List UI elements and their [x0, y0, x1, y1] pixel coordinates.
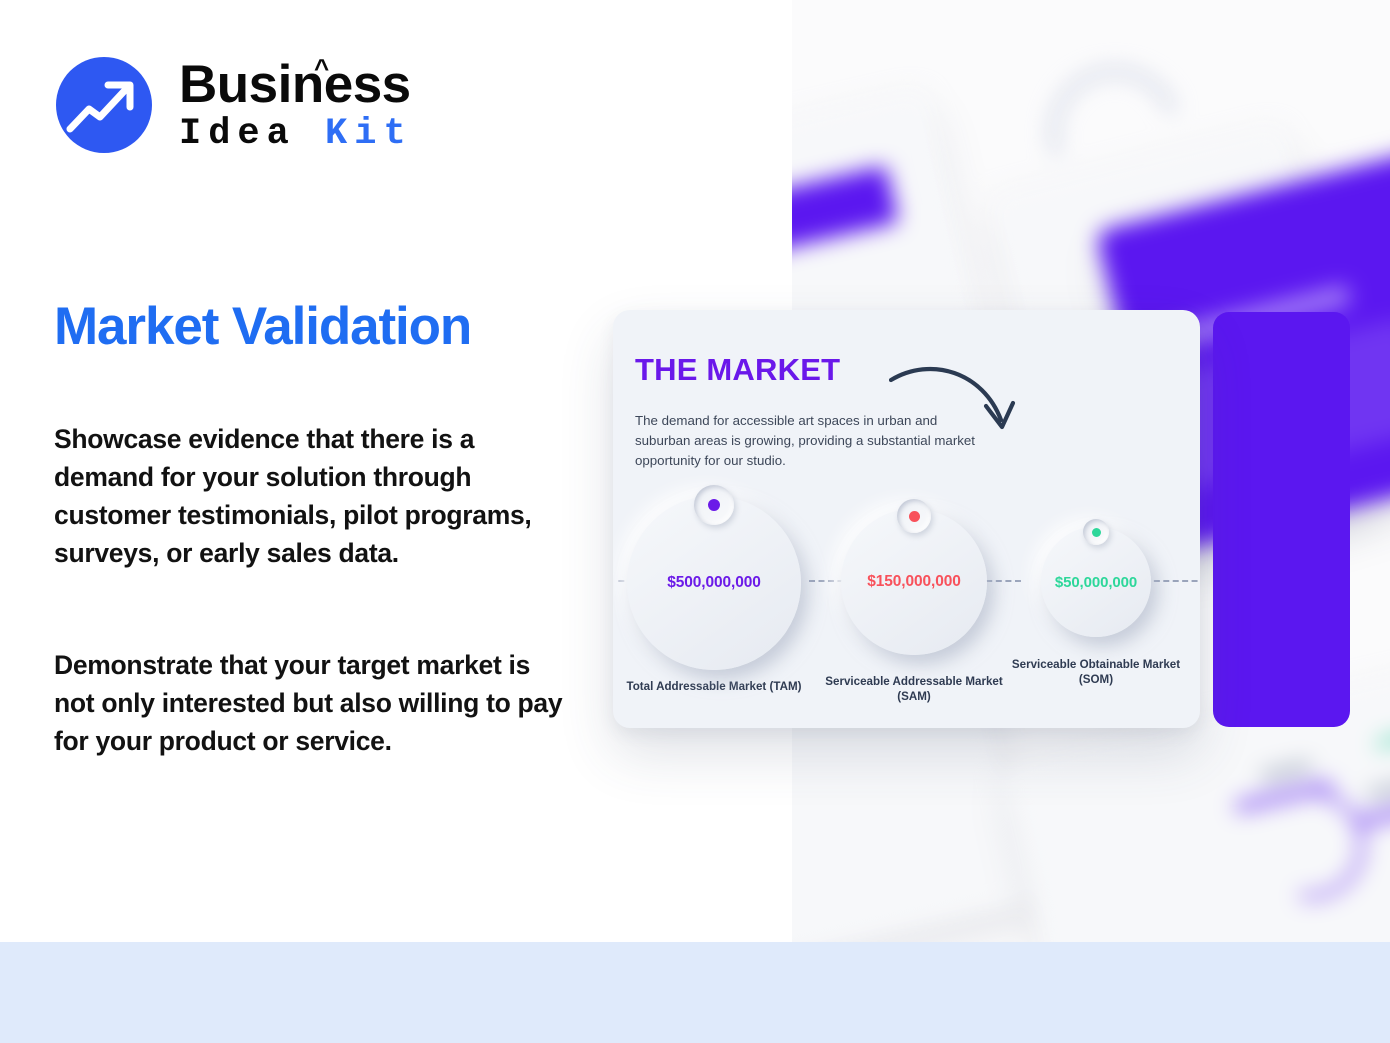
tam-value: $500,000,000 — [667, 574, 761, 592]
growth-arrow-icon — [56, 57, 152, 153]
footer-band — [0, 942, 1390, 1043]
circumflex-accent-icon: ^ — [314, 55, 329, 81]
brand-idea-text: Idea — [179, 113, 325, 155]
sam-dot — [909, 511, 920, 522]
tam-dot — [708, 499, 720, 511]
brand-name-primary: Business ^ — [179, 58, 413, 111]
accent-purple-block — [1213, 312, 1350, 727]
som-dot — [1092, 528, 1101, 537]
market-circle-sam[interactable]: $150,000,000 Serviceable Addressable Mar… — [825, 509, 1003, 704]
page-title: Market Validation — [54, 296, 471, 357]
mock-bar — [792, 166, 899, 290]
sam-circle-shape: $150,000,000 — [841, 509, 987, 655]
market-size-circles: $500,000,000 Total Addressable Market (T… — [613, 496, 1200, 700]
market-circle-som[interactable]: $50,000,000 Serviceable Obtainable Marke… — [1007, 527, 1185, 687]
som-value: $50,000,000 — [1055, 574, 1137, 591]
market-circle-tam[interactable]: $500,000,000 Total Addressable Market (T… — [625, 496, 803, 694]
the-market-card: THE MARKET The demand for accessible art… — [613, 310, 1200, 728]
brand-kit-text: Kit — [325, 113, 413, 155]
mock-bar — [1260, 760, 1313, 783]
sam-label: Serviceable Addressable Market (SAM) — [825, 674, 1003, 704]
brand-name-text: Business — [179, 55, 411, 114]
body-paragraph-1: Showcase evidence that there is a demand… — [54, 420, 564, 573]
tam-circle-shape: $500,000,000 — [627, 496, 801, 670]
curved-arrow-icon — [889, 358, 1024, 442]
brand-name-secondary: Idea Kit — [179, 116, 413, 153]
tam-label: Total Addressable Market (TAM) — [625, 679, 803, 694]
the-market-title: THE MARKET — [635, 352, 840, 388]
som-circle-shape: $50,000,000 — [1041, 527, 1151, 637]
tam-knob — [694, 485, 734, 525]
slide-canvas: THE MARKET The demand for accessible art… — [0, 0, 1390, 1043]
som-knob — [1083, 519, 1109, 545]
brand-wordmark: Business ^ Idea Kit — [179, 58, 413, 153]
sam-knob — [897, 499, 931, 533]
som-label: Serviceable Obtainable Market (SOM) — [1007, 657, 1185, 687]
sam-value: $150,000,000 — [867, 573, 961, 591]
body-paragraph-2: Demonstrate that your target market is n… — [54, 646, 564, 760]
